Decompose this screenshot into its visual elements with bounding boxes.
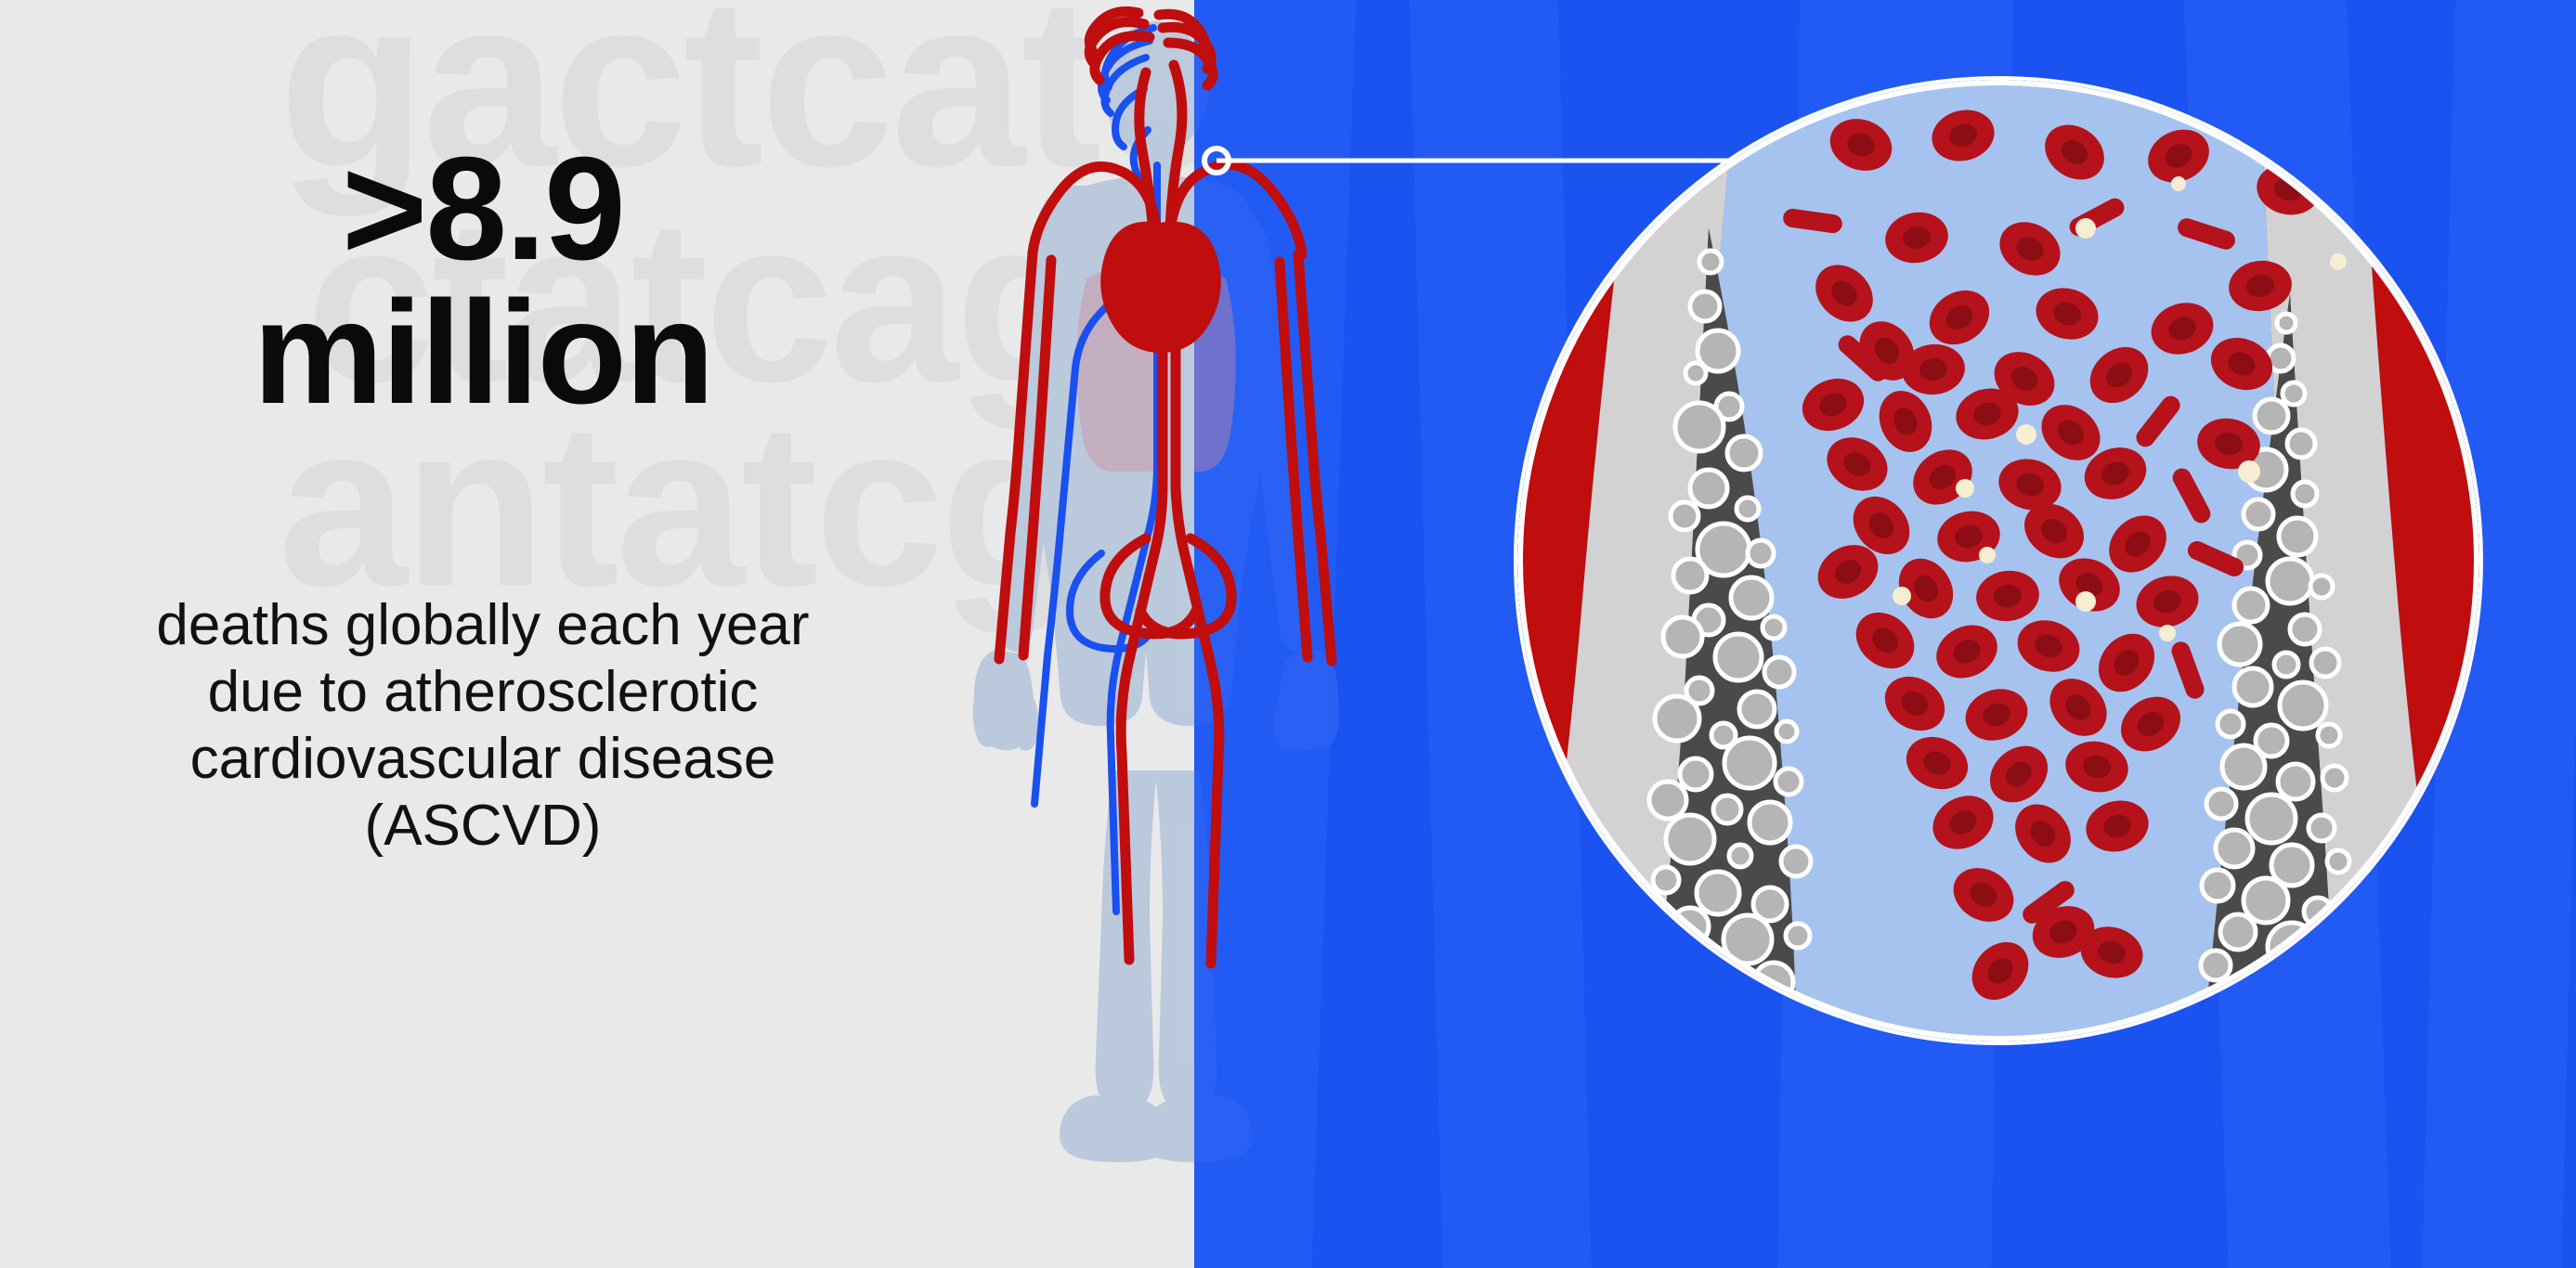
infographic-canvas: gactcatc ctatcag antatcg >8.9 million de… — [0, 0, 2576, 1268]
subtext-description: deaths globally each year due to atheros… — [0, 592, 966, 860]
heart-icon — [1100, 222, 1221, 353]
human-body-figure — [947, 0, 1365, 1170]
headline-statistic: >8.9 million — [0, 137, 966, 425]
headline-line-2: million — [0, 281, 966, 425]
subtext-line-1: deaths globally each year — [0, 592, 966, 659]
subtext-line-2: due to atherosclerotic — [0, 659, 966, 726]
headline-line-1: >8.9 — [0, 137, 966, 281]
subtext-line-3: cardiovascular disease — [0, 726, 966, 793]
artery-magnifier — [1514, 76, 2483, 1045]
subtext-line-4: (ASCVD) — [0, 793, 966, 860]
